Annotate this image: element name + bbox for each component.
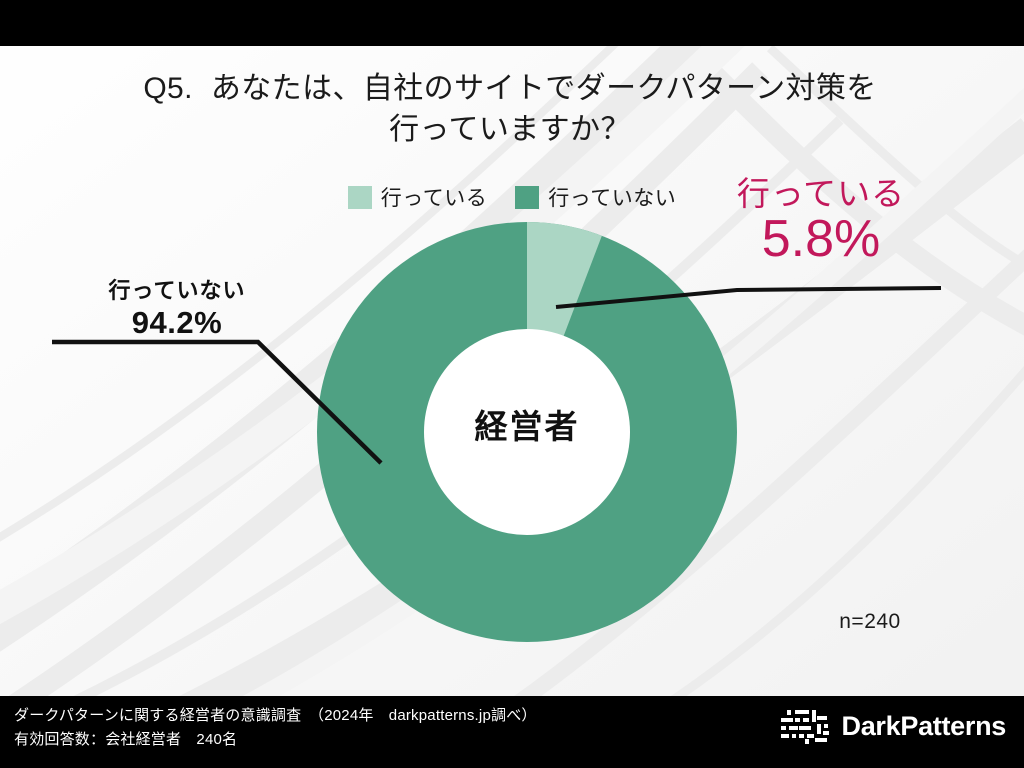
legend-label: 行っていない	[548, 182, 676, 212]
legend-label: 行っている	[381, 182, 487, 212]
question-number: Q5.	[143, 72, 193, 105]
maze-logo-icon	[779, 706, 831, 746]
callout-left-title: 行っていない	[52, 278, 302, 304]
legend-item-okonatteinai[interactable]: 行っていない	[515, 182, 676, 212]
legend-item-okonatteiru[interactable]: 行っている	[348, 182, 487, 212]
question-text-line2: 行っていますか？	[60, 109, 960, 150]
callout-okonatteinai: 行っていない 94.2%	[52, 278, 302, 343]
footer-line-1: ダークパターンに関する経営者の意識調査 （2024年 darkpatterns.…	[14, 704, 537, 728]
footer-source-text: ダークパターンに関する経営者の意識調査 （2024年 darkpatterns.…	[14, 704, 537, 753]
footer-line-2: 有効回答数：会社経営者 240名	[14, 728, 537, 752]
callout-left-value: 94.2%	[52, 304, 302, 343]
donut-center-label: 経営者	[317, 400, 737, 448]
callout-right-value: 5.8%	[690, 213, 952, 266]
callout-okonatteiru: 行っている 5.8%	[690, 176, 952, 266]
slide-root: ダークパターンに関する経営者の意識調査 Q5.あなたは、自社のサイトでダークパタ…	[0, 0, 1024, 768]
brand-name: DarkPatterns	[842, 711, 1006, 742]
question-block: Q5.あなたは、自社のサイトでダークパターン対策を 行っていますか？	[60, 68, 960, 151]
header-bar	[0, 0, 1024, 46]
callout-right-title: 行っている	[690, 176, 952, 213]
sample-size-label: n=240	[800, 610, 940, 634]
legend-swatch-icon	[515, 186, 539, 209]
question-text-line1: あなたは、自社のサイトでダークパターン対策を	[211, 72, 877, 105]
legend-swatch-icon	[348, 186, 372, 209]
question-line-1: Q5.あなたは、自社のサイトでダークパターン対策を	[60, 68, 960, 109]
brand-logo[interactable]: DarkPatterns	[779, 706, 1006, 746]
